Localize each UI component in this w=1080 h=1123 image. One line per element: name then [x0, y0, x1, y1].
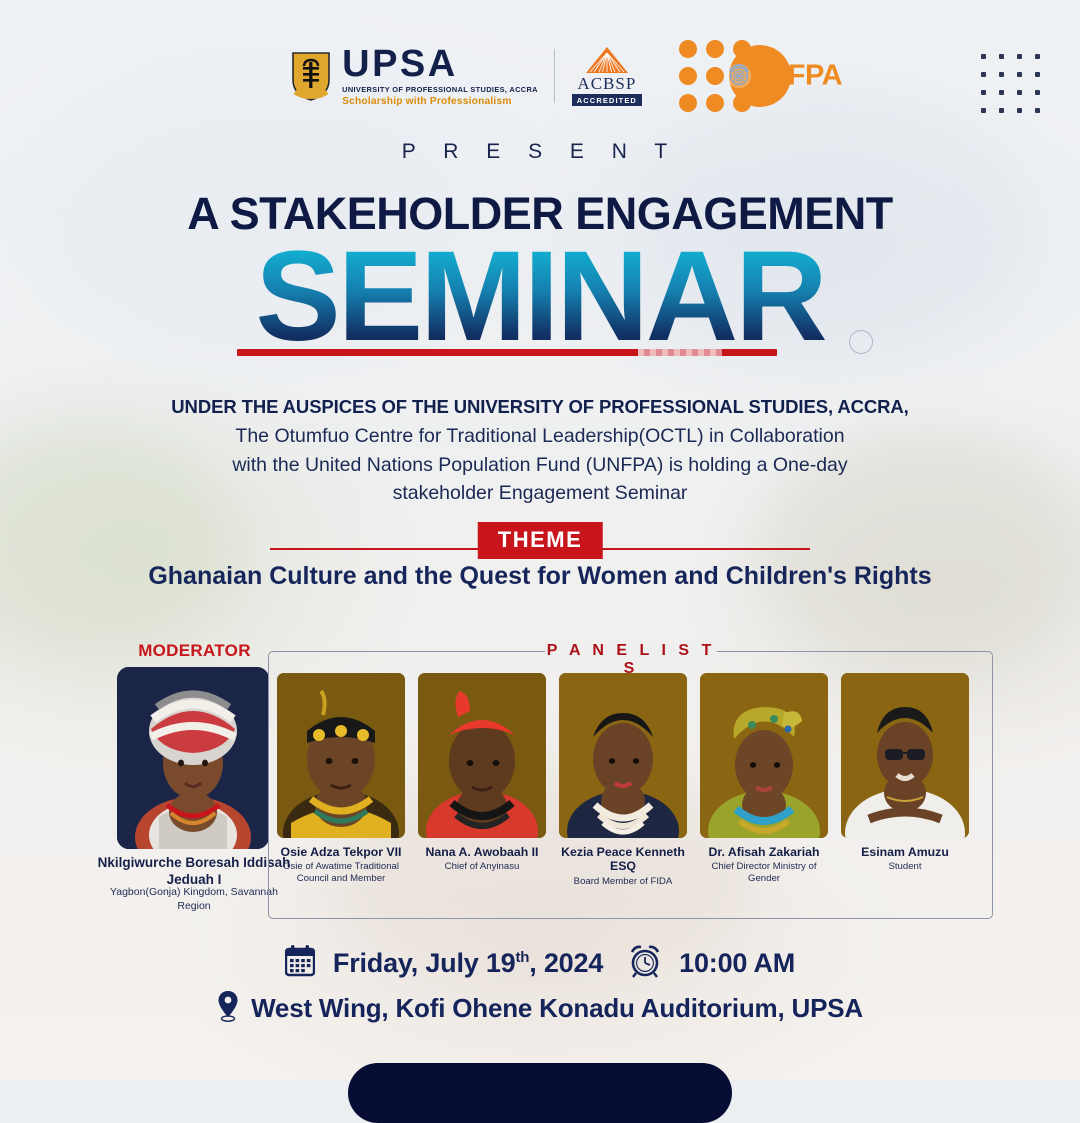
date-main: Friday, July 19 [333, 948, 516, 978]
theme-badge: THEME [478, 522, 603, 559]
venue-row: West Wing, Kofi Ohene Konadu Auditorium,… [0, 990, 1080, 1027]
decor-dot-grid-icon [981, 54, 1040, 113]
auspices-line: UNDER THE AUSPICES OF THE UNIVERSITY OF … [0, 396, 1080, 418]
moderator-role: Yagbon(Gonja) Kingdom, Savannah Region [95, 886, 293, 913]
upsa-subtitle: UNIVERSITY OF PROFESSIONAL STUDIES, ACCR… [342, 86, 538, 93]
panelist-card: Nana A. Awobaah II Chief of Anyinasu [418, 673, 546, 887]
date-year: , 2024 [529, 948, 603, 978]
panelist-name: Osie Adza Tekpor VII [277, 845, 405, 859]
unfpa-logo: UNFPA [679, 40, 791, 112]
acbsp-triangle-icon [584, 46, 630, 74]
calendar-icon [285, 945, 315, 982]
acbsp-wordmark: ACBSP [577, 75, 636, 92]
panelist-name: Esinam Amuzu [841, 845, 969, 859]
upsa-logo: UPSA UNIVERSITY OF PROFESSIONAL STUDIES,… [289, 45, 538, 107]
panelists-grid: Osie Adza Tekpor VII Osie of Awatime Tra… [277, 673, 984, 887]
theme-text: Ghanaian Culture and the Quest for Women… [0, 562, 1080, 591]
panelist-photo [277, 673, 405, 838]
panelist-role: Student [841, 861, 969, 873]
date-time-row: Friday, July 19th, 2024 10:00 AM [0, 944, 1080, 983]
panelist-name: Kezia Peace Kenneth ESQ [559, 845, 687, 874]
date-ordinal: th [516, 949, 530, 966]
moderator-photo [117, 667, 269, 849]
event-venue: West Wing, Kofi Ohene Konadu Auditorium,… [251, 993, 863, 1024]
panelist-card: Osie Adza Tekpor VII Osie of Awatime Tra… [277, 673, 405, 887]
panelist-role: Osie of Awatime Traditional Council and … [277, 861, 405, 884]
event-date: Friday, July 19th, 2024 [333, 948, 603, 979]
panelist-photo [418, 673, 546, 838]
panelist-role: Board Member of FIDA [559, 876, 687, 888]
title-underline-dashes [638, 349, 722, 356]
logo-row: UPSA UNIVERSITY OF PROFESSIONAL STUDIES,… [0, 40, 1080, 112]
panelist-card: Kezia Peace Kenneth ESQ Board Member of … [559, 673, 687, 887]
upsa-tagline: Scholarship with Professionalism [342, 97, 538, 107]
panelist-name: Nana A. Awobaah II [418, 845, 546, 859]
decor-ring-shape [849, 330, 873, 354]
poster-canvas: UPSA UNIVERSITY OF PROFESSIONAL STUDIES,… [0, 0, 1080, 1080]
intro-paragraph-text: The Otumfuo Centre for Traditional Leade… [220, 422, 860, 508]
panelist-role: Chief Director Ministry of Gender [700, 861, 828, 884]
panelist-photo [559, 673, 687, 838]
alarm-clock-icon [629, 944, 661, 983]
upsa-wordmark: UPSA [342, 45, 538, 83]
panelist-name: Dr. Afisah Zakariah [700, 845, 828, 859]
logo-divider [554, 49, 555, 103]
acbsp-accredited-badge: ACCREDITED [572, 94, 642, 106]
panelist-photo [700, 673, 828, 838]
bottom-pill-shape [348, 1063, 732, 1123]
un-emblem-icon [726, 63, 752, 89]
location-pin-icon [217, 990, 239, 1027]
panelist-card: Dr. Afisah Zakariah Chief Director Minis… [700, 673, 828, 887]
upsa-shield-icon [289, 50, 333, 102]
unfpa-wordmark: UNFPA [747, 60, 842, 93]
moderator-name: Nkilgiwurche Boresah Iddisah Jeduah I [95, 855, 293, 889]
panelist-role: Chief of Anyinasu [418, 861, 546, 873]
intro-paragraph: The Otumfuo Centre for Traditional Leade… [0, 422, 1080, 508]
event-time: 10:00 AM [679, 948, 795, 979]
moderator-label: MODERATOR [107, 641, 282, 661]
acbsp-logo: ACBSP ACCREDITED [571, 46, 643, 106]
panelist-photo [841, 673, 969, 838]
present-label: P R E S E N T [0, 140, 1080, 164]
title-line-2: SEMINAR [0, 228, 1080, 366]
panelist-card: Esinam Amuzu Student [841, 673, 969, 887]
